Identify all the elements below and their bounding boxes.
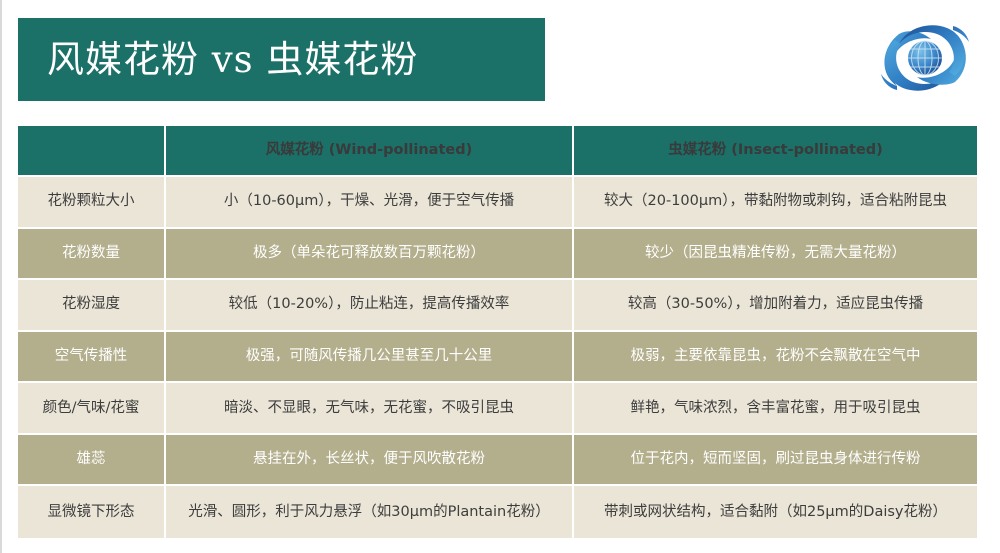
title-banner: 风媒花粉 vs 虫媒花粉 <box>18 18 545 101</box>
row-value-wind: 极强，可随风传播几公里甚至几十公里 <box>166 332 574 384</box>
globe-eye-logo-icon <box>877 12 973 104</box>
row-label: 花粉数量 <box>18 229 166 281</box>
comparison-table-wrapper: 风媒花粉 (Wind-pollinated) 虫媒花粉 (Insect-poll… <box>18 126 977 538</box>
table-row: 显微镜下形态 光滑、圆形，利于风力悬浮（如30µm的Plantain花粉） 带刺… <box>18 486 977 538</box>
table-row: 颜色/气味/花蜜 暗淡、不显眼，无气味，无花蜜，不吸引昆虫 鲜艳，气味浓烈，含丰… <box>18 383 977 435</box>
table-row: 花粉数量 极多（单朵花可释放数百万颗花粉） 较少（因昆虫精准传粉，无需大量花粉） <box>18 229 977 281</box>
column-header-insect: 虫媒花粉 (Insect-pollinated) <box>574 126 977 177</box>
row-value-wind: 光滑、圆形，利于风力悬浮（如30µm的Plantain花粉） <box>166 486 574 538</box>
row-value-insect: 较大（20-100µm），带黏附物或刺钩，适合粘附昆虫 <box>574 177 977 229</box>
table-header: 风媒花粉 (Wind-pollinated) 虫媒花粉 (Insect-poll… <box>18 126 977 177</box>
table-header-row: 风媒花粉 (Wind-pollinated) 虫媒花粉 (Insect-poll… <box>18 126 977 177</box>
row-label: 花粉湿度 <box>18 280 166 332</box>
row-value-wind: 悬挂在外，长丝状，便于风吹散花粉 <box>166 435 574 487</box>
page-title: 风媒花粉 vs 虫媒花粉 <box>18 41 418 78</box>
column-header-blank <box>18 126 166 177</box>
row-value-wind: 极多（单朵花可释放数百万颗花粉） <box>166 229 574 281</box>
column-header-wind: 风媒花粉 (Wind-pollinated) <box>166 126 574 177</box>
row-value-wind: 较低（10-20%），防止粘连，提高传播效率 <box>166 280 574 332</box>
row-value-insect: 带刺或网状结构，适合黏附（如25µm的Daisy花粉） <box>574 486 977 538</box>
table-row: 花粉湿度 较低（10-20%），防止粘连，提高传播效率 较高（30-50%），增… <box>18 280 977 332</box>
table-row: 空气传播性 极强，可随风传播几公里甚至几十公里 极弱，主要依靠昆虫，花粉不会飘散… <box>18 332 977 384</box>
row-label: 花粉颗粒大小 <box>18 177 166 229</box>
table-row: 花粉颗粒大小 小（10-60µm），干燥、光滑，便于空气传播 较大（20-100… <box>18 177 977 229</box>
table-row: 雄蕊 悬挂在外，长丝状，便于风吹散花粉 位于花内，短而坚固，刷过昆虫身体进行传粉 <box>18 435 977 487</box>
table-body: 花粉颗粒大小 小（10-60µm），干燥、光滑，便于空气传播 较大（20-100… <box>18 177 977 538</box>
row-value-insect: 极弱，主要依靠昆虫，花粉不会飘散在空气中 <box>574 332 977 384</box>
row-value-insect: 位于花内，短而坚固，刷过昆虫身体进行传粉 <box>574 435 977 487</box>
row-label: 显微镜下形态 <box>18 486 166 538</box>
row-label: 雄蕊 <box>18 435 166 487</box>
row-label: 颜色/气味/花蜜 <box>18 383 166 435</box>
row-value-insect: 鲜艳，气味浓烈，含丰富花蜜，用于吸引昆虫 <box>574 383 977 435</box>
row-value-wind: 小（10-60µm），干燥、光滑，便于空气传播 <box>166 177 574 229</box>
comparison-table: 风媒花粉 (Wind-pollinated) 虫媒花粉 (Insect-poll… <box>18 126 977 538</box>
row-value-insect: 较高（30-50%），增加附着力，适应昆虫传播 <box>574 280 977 332</box>
slide-canvas: 风媒花粉 vs 虫媒花粉 <box>0 0 1000 553</box>
row-value-insect: 较少（因昆虫精准传粉，无需大量花粉） <box>574 229 977 281</box>
row-label: 空气传播性 <box>18 332 166 384</box>
row-value-wind: 暗淡、不显眼，无气味，无花蜜，不吸引昆虫 <box>166 383 574 435</box>
